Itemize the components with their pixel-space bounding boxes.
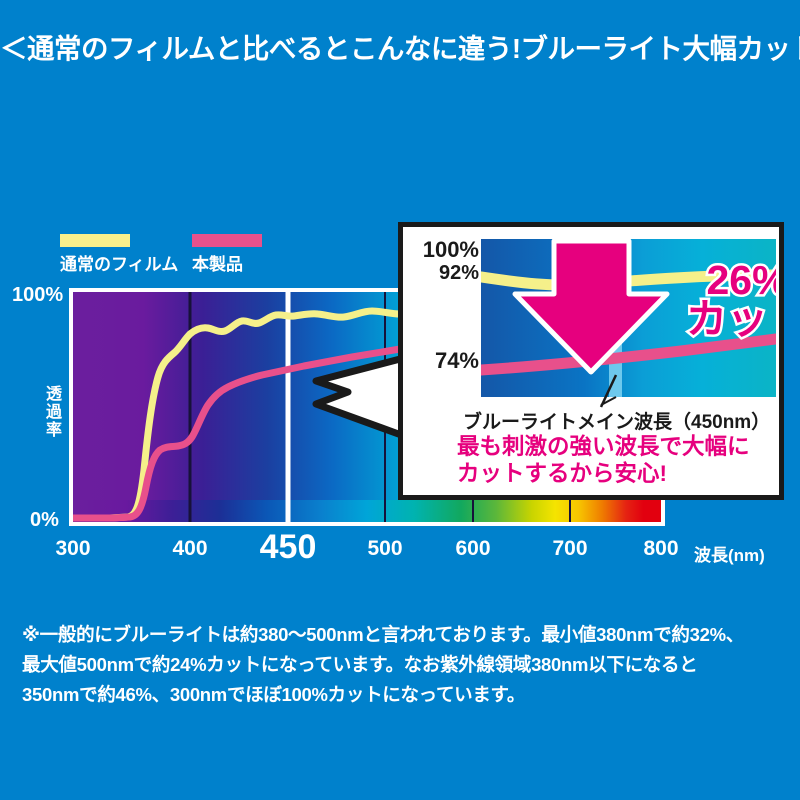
inset-label-92: 92% — [407, 262, 479, 285]
footnote-line-1: ※一般的にブルーライトは約380〜500nmと言われております。最小値380nm… — [22, 620, 792, 650]
inset-caption-450nm: ブルーライトメイン波長（450nm） — [463, 407, 783, 434]
x-tick-500: 500 — [367, 537, 402, 561]
inset-message-line1: 最も刺激の強い波長で大幅に — [457, 433, 750, 460]
x-tick-300: 300 — [55, 537, 90, 561]
y-axis-min-label: 0% — [30, 509, 59, 532]
x-tick-600: 600 — [455, 537, 490, 561]
footnote-line-2: 最大値500nmで約24%カットになっています。なお紫外線領域380nm以下にな… — [22, 650, 792, 680]
x-tick-450: 450 — [260, 528, 317, 567]
cut-percentage-text: 26% カット — [686, 261, 776, 339]
cut-value: 26% — [686, 261, 776, 300]
inset-message-line2: カットするから安心! — [457, 460, 750, 487]
inset-label-74: 74% — [407, 348, 479, 374]
leader-line — [601, 397, 616, 405]
footnote-line-3: 350nmで約46%、300nmでほぼ100%カットになっています。 — [22, 680, 792, 710]
x-axis-unit-label: 波長(nm) — [694, 541, 765, 566]
footnote-text: ※一般的にブルーライトは約380〜500nmと言われております。最小値380nm… — [22, 620, 792, 710]
y-axis-max-label: 100% — [12, 284, 63, 307]
zoom-callout-box: 100% 92% 74% 26% — [398, 222, 784, 500]
cut-word: カット — [686, 300, 776, 339]
inset-label-100: 100% — [407, 237, 479, 263]
x-tick-400: 400 — [172, 537, 207, 561]
y-axis-title: 透過率 — [39, 385, 63, 439]
x-tick-800: 800 — [643, 537, 678, 561]
x-tick-700: 700 — [552, 537, 587, 561]
inset-message: 最も刺激の強い波長で大幅に カットするから安心! — [457, 433, 750, 487]
inset-plot-area: 26% カット — [481, 239, 776, 397]
spectrum-band — [73, 500, 661, 522]
